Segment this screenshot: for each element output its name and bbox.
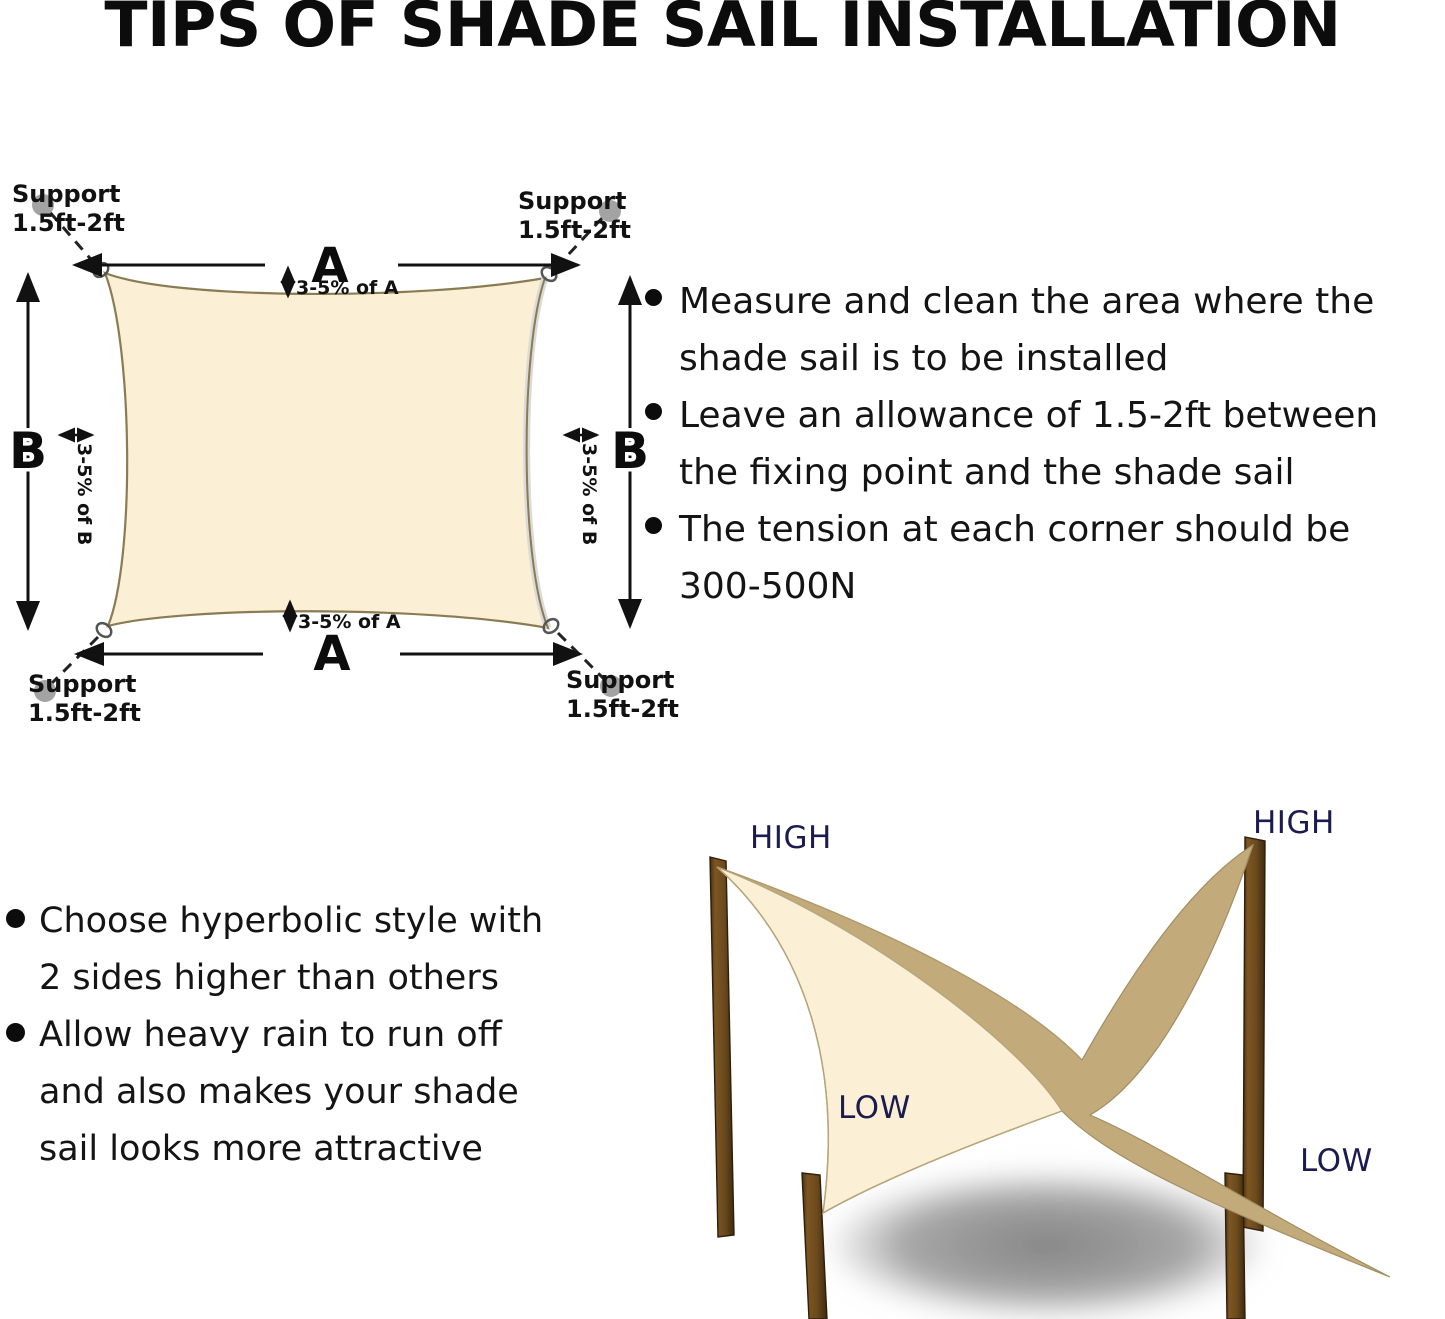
svg-text:3-5% of B: 3-5% of B <box>578 443 600 545</box>
bullet-icon <box>6 909 25 928</box>
list-item: The tension at each corner should be <box>645 503 1445 556</box>
bullet-spacer-icon <box>6 1080 25 1099</box>
bullet-icon <box>645 289 662 306</box>
pole-high-left <box>710 857 734 1237</box>
label-low-left: LOW <box>838 1090 911 1126</box>
list-item: shade sail is to be installed <box>645 332 1445 385</box>
hyperbolic-sail-diagram <box>690 775 1445 1319</box>
bullet-icon <box>6 1023 25 1042</box>
support-label-bottom-left: Support 1.5ft-2ft <box>28 670 141 728</box>
rectangular-sail-diagram: A 3-5% of A A 3-5% of A B 3-5% of B B 3-… <box>0 160 660 730</box>
tips-list-top: Measure and clean the area where the sha… <box>645 275 1445 617</box>
dimension-a-bottom: A <box>77 626 580 682</box>
svg-text:B: B <box>611 422 649 480</box>
list-item: Allow heavy rain to run off <box>0 1009 625 1062</box>
pole-high-right <box>1243 837 1265 1231</box>
page-title: TIPS OF SHADE SAIL INSTALLATION <box>0 0 1445 57</box>
support-label-top-left: Support 1.5ft-2ft <box>12 180 125 238</box>
svg-text:B: B <box>9 422 47 480</box>
list-item: 2 sides higher than others <box>0 952 625 1005</box>
dimension-b-left: B <box>9 275 47 628</box>
svg-text:3-5% of A: 3-5% of A <box>298 611 401 633</box>
pole-low-left <box>802 1173 827 1319</box>
svg-text:3-5% of A: 3-5% of A <box>296 277 399 299</box>
curve-b-left: 3-5% of B <box>60 435 95 545</box>
bullet-icon <box>645 517 662 534</box>
bullet-spacer-icon <box>645 460 662 477</box>
curve-b-right: 3-5% of B <box>565 435 600 545</box>
svg-text:3-5% of B: 3-5% of B <box>73 443 95 545</box>
label-high-left: HIGH <box>750 820 832 856</box>
svg-text:A: A <box>313 626 350 682</box>
support-label-bottom-right: Support 1.5ft-2ft <box>566 666 679 724</box>
tips-list-bottom: Choose hyperbolic style with 2 sides hig… <box>0 895 625 1180</box>
bullet-spacer-icon <box>645 346 662 363</box>
sail-shape <box>105 273 548 628</box>
bullet-spacer-icon <box>6 1137 25 1156</box>
list-item: Measure and clean the area where the <box>645 275 1445 328</box>
list-item: Choose hyperbolic style with <box>0 895 625 948</box>
bullet-spacer-icon <box>6 966 25 985</box>
list-item: Leave an allowance of 1.5-2ft between <box>645 389 1445 442</box>
bullet-spacer-icon <box>645 574 662 591</box>
label-low-right: LOW <box>1300 1143 1373 1179</box>
support-label-top-right: Support 1.5ft-2ft <box>518 187 631 245</box>
dimension-b-right: B <box>611 278 649 626</box>
list-item: sail looks more attractive <box>0 1123 625 1176</box>
bullet-icon <box>645 403 662 420</box>
list-item: the fixing point and the shade sail <box>645 446 1445 499</box>
list-item: 300-500N <box>645 560 1445 613</box>
label-high-right: HIGH <box>1253 805 1335 841</box>
list-item: and also makes your shade <box>0 1066 625 1119</box>
